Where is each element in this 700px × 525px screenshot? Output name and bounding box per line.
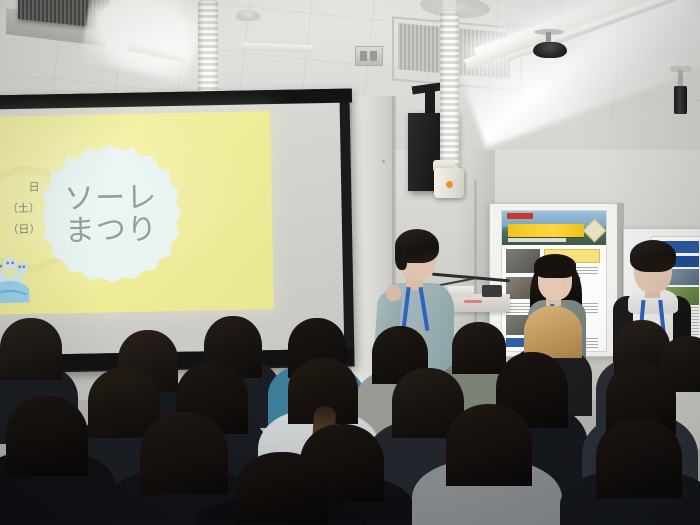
audience-member — [596, 418, 682, 498]
poster-header-tag — [507, 213, 533, 219]
audience-member — [452, 322, 506, 374]
duct-nozzle-center-indicator — [446, 181, 453, 188]
slide-badge-text: ソーレ まつり — [37, 154, 185, 277]
slide-date-line-1: 日 — [0, 178, 40, 200]
slide-date-line-3: （日） — [0, 219, 41, 241]
duct-hose-center — [440, 10, 459, 170]
audience-member — [140, 412, 228, 494]
slide-date-line-2: （土） — [0, 198, 40, 220]
black-cylinder-projector-icon — [674, 86, 687, 114]
pillar-fixing-screw — [382, 160, 385, 163]
photo-scene: 日 （土） （日） ソーレ まつり — [0, 0, 700, 525]
slide-date-text: 日 （土） （日） — [0, 178, 41, 242]
presenter-hair-side — [395, 246, 407, 270]
poster-header-title — [508, 224, 584, 237]
av-equipment-box — [448, 286, 474, 297]
audience-member — [6, 396, 88, 476]
av-equipment-dark-unit — [482, 285, 502, 297]
black-dome-fixture-icon — [533, 42, 567, 58]
slide-badge-line-2: まつり — [65, 214, 159, 248]
smoke-detector-icon — [236, 10, 260, 21]
poster-header-subtitle — [508, 238, 566, 242]
wall-vent-small — [355, 46, 383, 66]
staff-man-fringe — [633, 256, 673, 270]
slide-cartoon-illustration — [0, 255, 30, 304]
audience-member — [0, 318, 62, 380]
duct-hose-left — [198, 0, 218, 100]
audience-member — [236, 452, 328, 524]
speaker-bracket — [425, 86, 435, 116]
audience-member — [446, 404, 532, 486]
audience — [0, 300, 700, 525]
slide-badge-line-1: ソーレ — [64, 182, 158, 216]
staff-woman-hair-front — [534, 254, 576, 278]
poster-left-header — [502, 211, 606, 245]
audience-member-blonde — [524, 306, 582, 358]
